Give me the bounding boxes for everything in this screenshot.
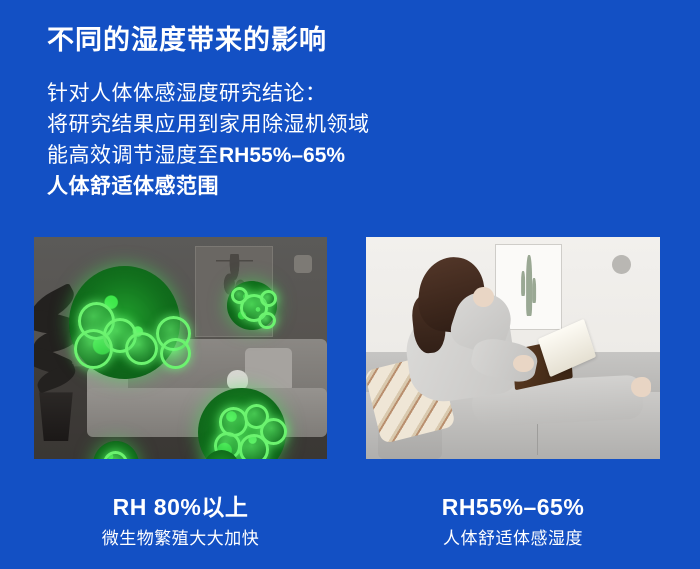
intro-line-2: 将研究结果应用到家用除湿机领域 [47,109,370,140]
woman-hand-holding-book [513,355,534,373]
microbe-nub [260,418,287,445]
intro-line-1: 针对人体体感湿度研究结论： [47,78,370,109]
microbe-nub [74,329,113,369]
sofa-cushion [245,348,292,392]
microbe-nub [103,451,128,459]
caption-title-high: RH 80%以上 [34,493,327,521]
intro-line-3: 能高效调节湿度至RH55%–65% [47,140,370,171]
caption-comfort-humidity: RH55%–65% 人体舒适体感湿度 [366,493,660,551]
intro-paragraph: 针对人体体感湿度研究结论： 将研究结果应用到家用除湿机领域 能高效调节湿度至RH… [47,78,370,202]
microbe-cluster-edge [93,441,140,459]
microbe-cluster-small [227,281,277,330]
photo-high-humidity [34,237,327,459]
microbe-nub [160,338,190,369]
intro-humidity-range: RH55%–65% [219,144,345,167]
caption-title-comfort: RH55%–65% [366,493,660,521]
microbe-nub [260,290,277,307]
wall-speaker-icon [294,255,312,273]
microbe-cluster-large [69,266,180,379]
book-pages [538,319,596,377]
humidity-infographic: 不同的湿度带来的影响 针对人体体感湿度研究结论： 将研究结果应用到家用除湿机领域… [0,0,700,569]
page-title: 不同的湿度带来的影响 [47,18,327,57]
photo-comfort-humidity [366,237,660,459]
caption-sub-high: 微生物繁殖大大加快 [34,527,327,551]
dim-living-room-scene [34,237,327,459]
caption-high-humidity: RH 80%以上 微生物繁殖大大加快 [34,493,327,551]
caption-sub-comfort: 人体舒适体感湿度 [366,527,660,551]
microbe-nub [125,332,158,365]
woman-reading [366,237,660,459]
woman-foot [631,377,652,397]
intro-line-3-prefix: 能高效调节湿度至 [47,144,219,167]
bright-living-room-scene [366,237,660,459]
woman-hand-at-head [473,287,494,307]
microbe-nub [258,312,276,330]
intro-line-4: 人体舒适体感范围 [47,171,370,202]
